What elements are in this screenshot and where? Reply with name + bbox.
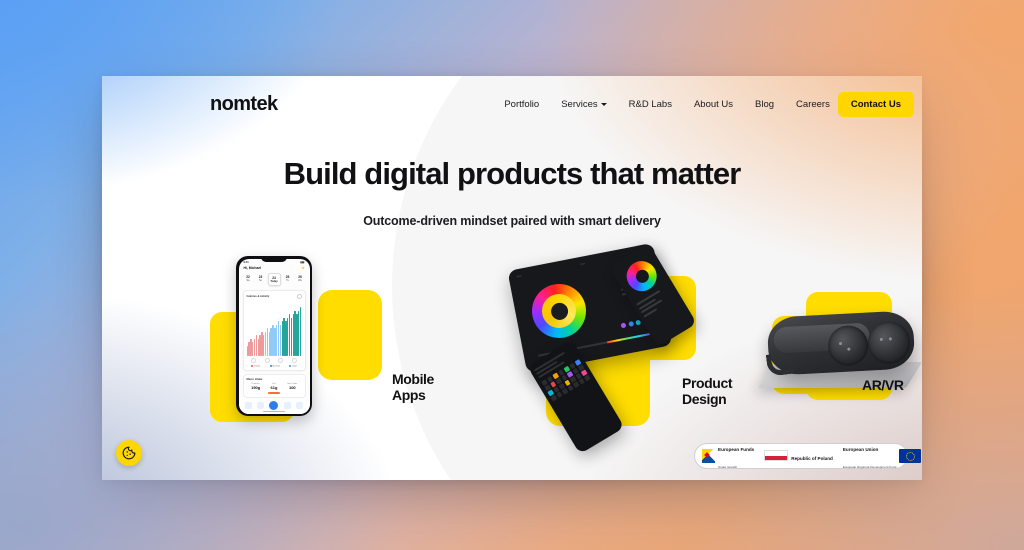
eu-entry-european-funds: European Funds Smart Growth bbox=[702, 439, 754, 473]
meal-icons bbox=[247, 356, 302, 363]
page-title: Build digital products that matter bbox=[102, 156, 922, 192]
chart-bar bbox=[278, 321, 279, 355]
keyboard-key bbox=[567, 385, 574, 391]
nav-label: R&D Labs bbox=[629, 99, 672, 110]
nav-item-careers[interactable]: Careers bbox=[796, 99, 830, 110]
eu-entry-text: European Union European Regional Develop… bbox=[843, 439, 897, 473]
hero-section: Build digital products that matter Outco… bbox=[102, 156, 922, 228]
nav-label: About Us bbox=[694, 99, 733, 110]
main-navigation: Portfolio Services R&D Labs About Us Blo… bbox=[504, 99, 830, 110]
eu-title: Republic of Poland bbox=[791, 456, 833, 461]
eu-entry-republic-of-poland: Republic of Poland bbox=[764, 448, 833, 465]
keyboard-key bbox=[551, 395, 558, 401]
date-dow: Su bbox=[259, 279, 262, 282]
macro-stat: Fat 61g bbox=[265, 383, 283, 390]
date-chip[interactable]: 26 We bbox=[295, 273, 306, 287]
keyboard-key bbox=[573, 381, 580, 387]
date-chip[interactable]: 23 Su bbox=[255, 273, 266, 287]
eu-title: European Union bbox=[843, 447, 878, 452]
cookie-icon bbox=[122, 446, 136, 460]
card-label-product-design: Product Design bbox=[682, 376, 732, 407]
date-dow: Today bbox=[270, 280, 277, 283]
phone-chart-card: Calories & Activity Inta bbox=[243, 290, 306, 371]
poland-flag-icon bbox=[764, 450, 788, 461]
eu-subtitle: European Regional Development Fund bbox=[843, 465, 897, 469]
chart-bar bbox=[256, 335, 257, 355]
nav-item-rd-labs[interactable]: R&D Labs bbox=[629, 99, 672, 110]
eu-flag-icon bbox=[899, 449, 921, 463]
nav-item-about-us[interactable]: About Us bbox=[694, 99, 733, 110]
chart-bar bbox=[300, 307, 301, 355]
date-dow: Tu bbox=[286, 279, 289, 282]
date-chip[interactable]: 22 Sa bbox=[243, 273, 254, 287]
home-indicator bbox=[263, 411, 285, 412]
nav-label: Blog bbox=[755, 99, 774, 110]
chart-legend: Intake Burned Goal bbox=[247, 363, 302, 368]
activity-chart bbox=[247, 299, 302, 356]
phone-greeting: Hi, Michael ★ bbox=[239, 264, 310, 272]
macro-stat: Proteins 190g bbox=[247, 383, 265, 390]
tab-add[interactable] bbox=[269, 401, 278, 410]
phone-mockup: 9:41 ▮▮▮ Hi, Michael ★ 22 Sa bbox=[236, 256, 312, 416]
greeting-text: Hi, Michael bbox=[244, 266, 262, 270]
macro-value: 100 bbox=[283, 385, 301, 390]
yellow-shape bbox=[318, 290, 382, 380]
date-chip-selected[interactable]: 24 Today bbox=[268, 273, 281, 287]
contact-us-button[interactable]: Contact Us bbox=[838, 92, 914, 117]
legend-item: Intake bbox=[251, 365, 260, 368]
nav-item-services[interactable]: Services bbox=[561, 99, 606, 110]
macros-card: Macro intake Proteins 190g Fat 61g bbox=[243, 374, 306, 397]
tab-stats[interactable] bbox=[257, 402, 264, 409]
legend-item: Goal bbox=[289, 365, 296, 368]
nav-label: Services bbox=[561, 99, 597, 110]
service-card-ar-vr[interactable]: AR/VR bbox=[762, 262, 922, 442]
eu-entry-text: European Funds Smart Growth bbox=[718, 439, 754, 473]
hero-subtitle: Outcome-driven mindset paired with smart… bbox=[102, 214, 922, 228]
service-card-product-design[interactable]: ▭▭▭▭▭ bbox=[510, 254, 760, 434]
progress-bar bbox=[268, 392, 280, 393]
desktop-background: nomtek Portfolio Services R&D Labs About… bbox=[0, 0, 1024, 550]
phone-screen: 9:41 ▮▮▮ Hi, Michael ★ 22 Sa bbox=[239, 259, 310, 414]
keyboard-key bbox=[584, 375, 591, 381]
eu-entry-text: Republic of Poland bbox=[791, 448, 833, 465]
color-wheel-graphic bbox=[527, 279, 590, 342]
date-dow: Sa bbox=[246, 279, 249, 282]
service-card-mobile-apps[interactable]: 9:41 ▮▮▮ Hi, Michael ★ 22 Sa bbox=[210, 254, 460, 434]
tab-profile[interactable] bbox=[296, 402, 303, 409]
keyboard-key bbox=[556, 392, 563, 398]
chart-bar bbox=[291, 318, 292, 356]
keyboard-key bbox=[579, 378, 586, 384]
tab-home[interactable] bbox=[245, 402, 252, 409]
european-funds-logo-icon bbox=[702, 449, 715, 463]
website-page: nomtek Portfolio Services R&D Labs About… bbox=[102, 76, 922, 480]
macro-stat: Net Carbs 100 bbox=[283, 383, 301, 390]
cookie-settings-button[interactable] bbox=[116, 440, 142, 466]
nav-item-blog[interactable]: Blog bbox=[755, 99, 774, 110]
card-label-ar-vr: AR/VR bbox=[862, 378, 904, 394]
chart-title: Calories & Activity bbox=[247, 295, 270, 298]
ar-headset-graphic bbox=[767, 310, 916, 376]
chevron-down-icon bbox=[601, 103, 607, 106]
tab-meals[interactable] bbox=[284, 402, 291, 409]
eu-entry-european-union: European Union European Regional Develop… bbox=[843, 439, 922, 473]
streak-icon: ★ bbox=[301, 266, 304, 270]
service-cards: 9:41 ▮▮▮ Hi, Michael ★ 22 Sa bbox=[102, 254, 922, 444]
nav-label: Careers bbox=[796, 99, 830, 110]
date-selector: 22 Sa 23 Su 24 Today bbox=[239, 272, 310, 289]
macro-value: 190g bbox=[247, 385, 265, 390]
eu-funding-banner: European Funds Smart Growth Republic of … bbox=[694, 443, 908, 469]
phone-notch bbox=[261, 257, 287, 262]
logo[interactable]: nomtek bbox=[210, 93, 278, 116]
macro-value: 61g bbox=[265, 385, 283, 390]
card-label-mobile-apps: Mobile Apps bbox=[392, 372, 434, 403]
legend-item: Burned bbox=[270, 365, 280, 368]
chart-bar bbox=[267, 328, 268, 355]
keyboard-key bbox=[562, 388, 569, 394]
nav-item-portfolio[interactable]: Portfolio bbox=[504, 99, 539, 110]
macros-row: Proteins 190g Fat 61g Net Carbs 100 bbox=[247, 381, 302, 390]
nav-label: Portfolio bbox=[504, 99, 539, 110]
eu-subtitle: Smart Growth bbox=[718, 465, 737, 469]
date-dow: We bbox=[298, 279, 302, 282]
chart-bar bbox=[280, 325, 281, 356]
date-chip[interactable]: 25 Tu bbox=[282, 273, 293, 287]
headset-lens-right bbox=[867, 320, 911, 364]
eu-title: European Funds bbox=[718, 447, 754, 452]
site-header: nomtek Portfolio Services R&D Labs About… bbox=[102, 76, 922, 132]
headset-lens-left bbox=[827, 325, 869, 367]
